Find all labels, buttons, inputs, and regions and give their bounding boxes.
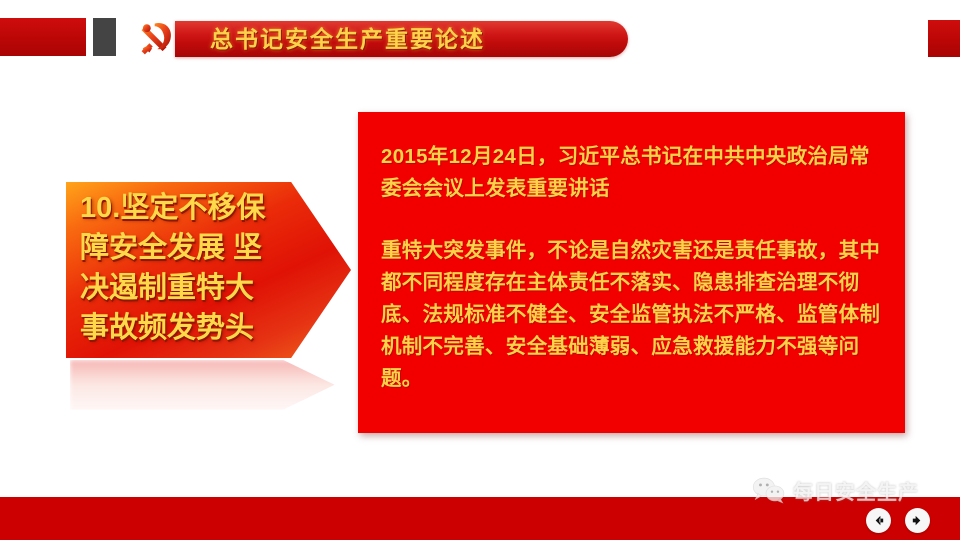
content-panel: 2015年12月24日，习近平总书记在中共中央政治局常委会会议上发表重要讲话 重… [358, 112, 905, 433]
watermark-text: 每日安全生产 [793, 476, 919, 505]
header-title: 总书记安全生产重要论述 [210, 21, 640, 57]
navigation-buttons [866, 508, 930, 533]
callout-line-3: 决遏制重特大 [80, 268, 330, 308]
header-gray-block [93, 18, 116, 56]
footer-watermark: 每日安全生产 [752, 472, 952, 508]
callout-line-1: 10.坚定不移保 [80, 188, 330, 228]
next-slide-button[interactable] [905, 508, 930, 533]
cpc-party-emblem-icon [134, 17, 178, 59]
header-bar: 总书记安全生产重要论述 [0, 0, 960, 75]
content-paragraph-2: 重特大突发事件，不论是自然灾害还是责任事故，其中都不同程度存在主体责任不落实、隐… [381, 235, 884, 395]
callout-line-2: 障安全发展 坚 [80, 228, 330, 268]
wechat-logo-icon [752, 476, 786, 504]
slide-root: 总书记安全生产重要论述 10.坚定不移保 障安全发展 坚 决遏制重特大 事故频发… [0, 0, 960, 540]
callout-line-4: 事故频发势头 [80, 308, 330, 348]
callout-text: 10.坚定不移保 障安全发展 坚 决遏制重特大 事故频发势头 [80, 188, 330, 348]
arrow-left-icon [871, 513, 886, 528]
callout-reflection [70, 360, 340, 422]
callout-arrow-box: 10.坚定不移保 障安全发展 坚 决遏制重特大 事故频发势头 [66, 182, 351, 358]
content-paragraph-1: 2015年12月24日，习近平总书记在中共中央政治局常委会会议上发表重要讲话 [381, 141, 884, 205]
header-right-red-block [928, 20, 960, 57]
header-left-red-block [0, 18, 86, 56]
prev-slide-button[interactable] [866, 508, 891, 533]
content-text-wrapper: 2015年12月24日，习近平总书记在中共中央政治局常委会会议上发表重要讲话 重… [381, 141, 884, 395]
arrow-right-icon [910, 513, 925, 528]
